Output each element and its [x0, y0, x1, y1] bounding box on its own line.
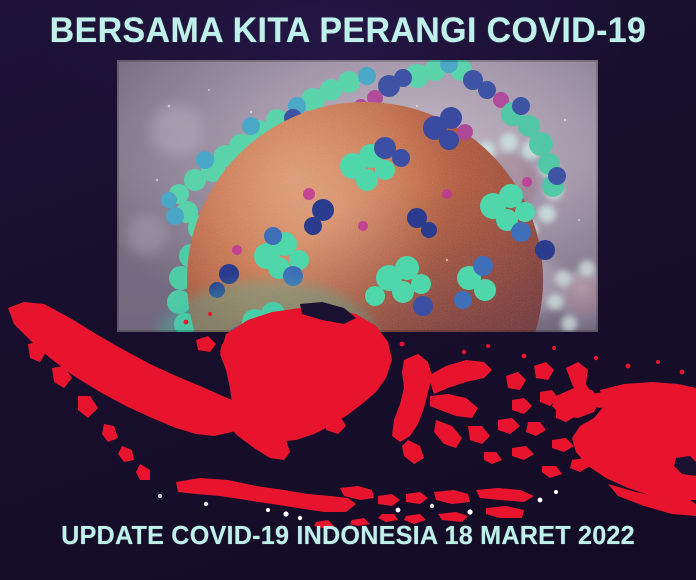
- indonesia-map: [0, 300, 696, 530]
- virus-photo-illustration: [117, 60, 598, 332]
- poster-canvas: BERSAMA KITA PERANGI COVID-19: [0, 0, 696, 580]
- footer-caption: UPDATE COVID-19 INDONESIA 18 MARET 2022: [10, 520, 685, 550]
- map-landmass: [8, 302, 696, 528]
- page-title: BERSAMA KITA PERANGI COVID-19: [10, 12, 685, 50]
- virus-photo: [117, 60, 598, 332]
- indonesia-map-illustration: [0, 300, 696, 530]
